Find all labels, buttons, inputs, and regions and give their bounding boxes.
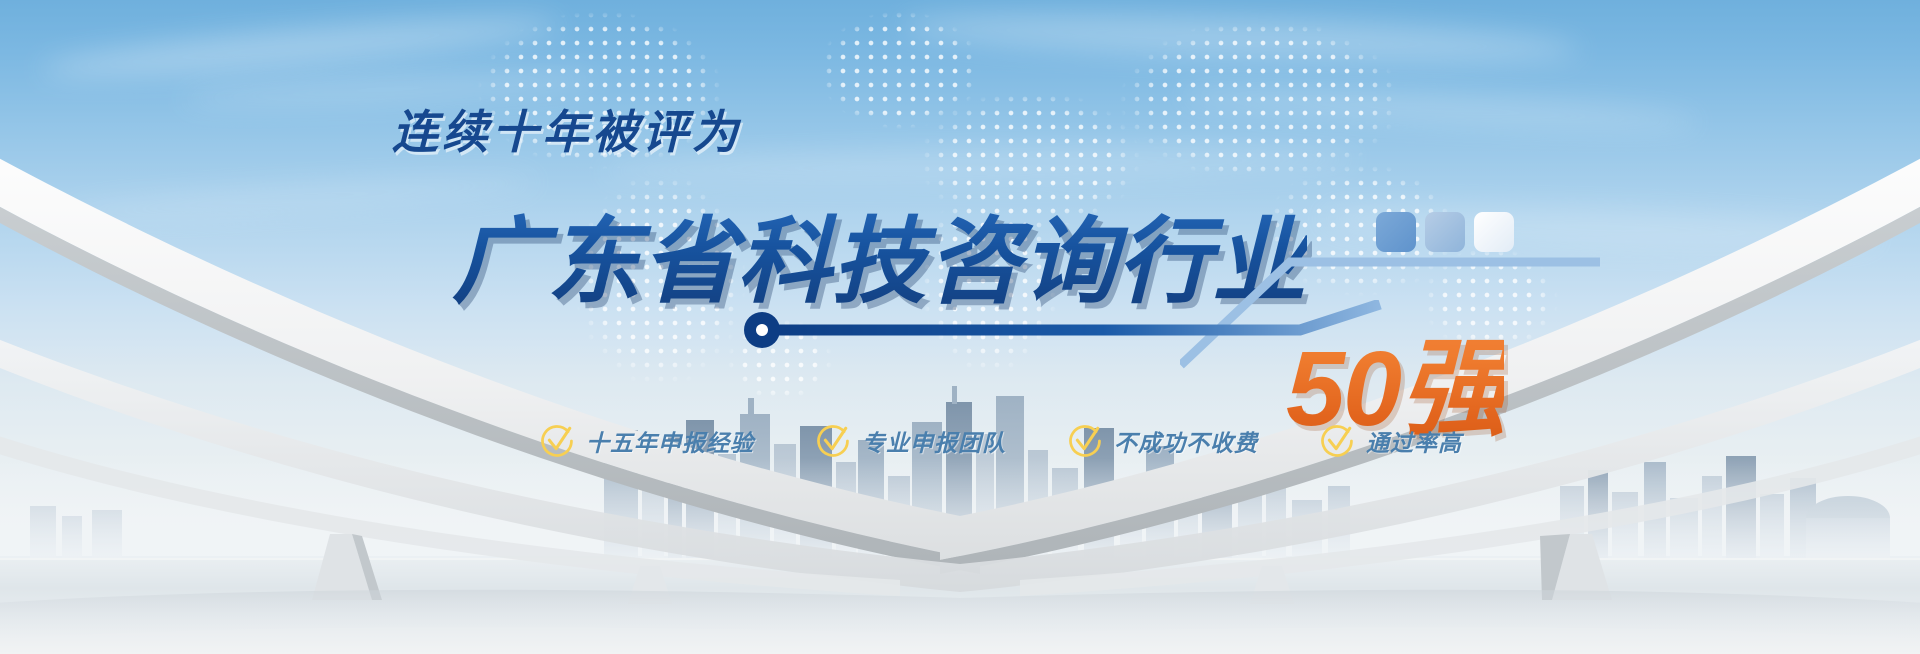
promo-banner: 连续十年被评为 广东省科技咨询行业: [0, 0, 1920, 654]
check-circle-icon: [816, 424, 850, 458]
banner-content: 连续十年被评为 广东省科技咨询行业: [0, 0, 1920, 654]
banner-eyebrow-text: 连续十年被评为: [392, 96, 742, 162]
feature-label: 专业申报团队: [862, 424, 1006, 458]
feature-item: 专业申报团队: [816, 424, 1006, 458]
feature-item: 不成功不收费: [1068, 424, 1258, 458]
feature-list: 十五年申报经验 专业申报团队 不成功不收费: [540, 424, 1462, 458]
check-circle-icon: [1320, 424, 1354, 458]
feature-item: 十五年申报经验: [540, 424, 754, 458]
check-circle-icon: [1068, 424, 1102, 458]
feature-label: 十五年申报经验: [586, 424, 754, 458]
feature-label: 不成功不收费: [1114, 424, 1258, 458]
check-circle-icon: [540, 424, 574, 458]
feature-label: 通过率高: [1366, 424, 1462, 458]
feature-item: 通过率高: [1320, 424, 1462, 458]
